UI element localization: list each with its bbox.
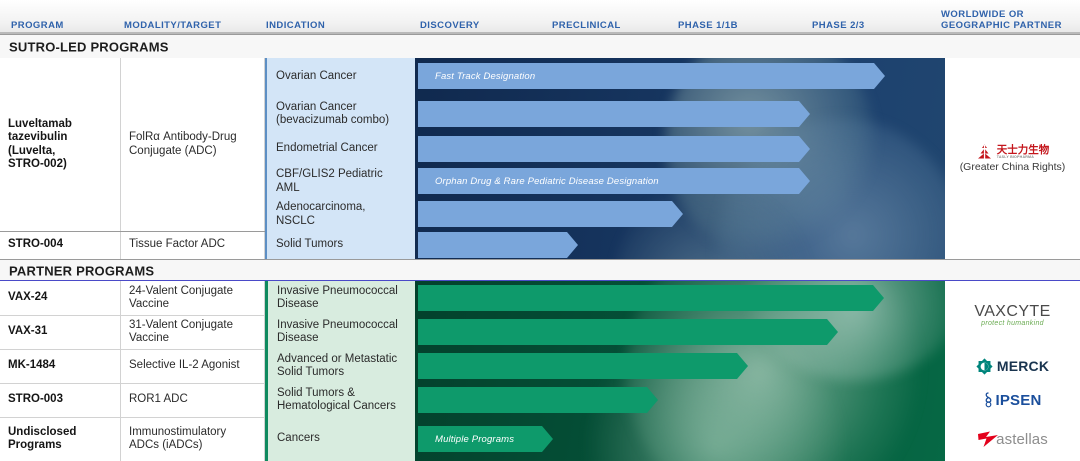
bar-label-multiple-programs: Multiple Programs: [418, 434, 514, 445]
bar-fill: [418, 353, 737, 379]
vaxcyte-logo-tagline: protect humankind: [981, 320, 1044, 327]
bar-arrow-tip: [799, 168, 810, 194]
table-row: VAX-31 31-Valent ConjugateVaccine Invasi…: [0, 315, 1080, 349]
section-partner: VAX-24 24-Valent ConjugateVaccine Invasi…: [0, 281, 1080, 461]
cell-indication: Advanced or MetastaticSolid Tumors: [265, 349, 415, 383]
vaxcyte-logo-text: VAXCYTE: [974, 303, 1050, 321]
bar-arrow-tip: [542, 426, 553, 452]
cell-modality-tissue-factor: Tissue Factor ADC: [120, 231, 265, 259]
bar-arrow-tip: [737, 353, 748, 379]
partner-cell-tasly: 天士力生物 TASLY BIOPHARMA (Greater China Rig…: [945, 58, 1080, 259]
table-row: Adenocarcinoma, NSCLC: [0, 198, 1080, 231]
merck-logo: MERCK: [976, 358, 1049, 375]
cell-program-stro-004: STRO-004: [0, 231, 120, 259]
column-header-indication: INDICATION: [266, 20, 325, 31]
column-header-discovery: DISCOVERY: [420, 20, 480, 31]
phase-bar-undisclosed: Multiple Programs: [418, 426, 553, 452]
cell-indication: Cancers: [265, 417, 415, 461]
ipsen-logo-text: IPSEN: [995, 392, 1041, 409]
column-header-phase1: PHASE 1/1B: [678, 20, 738, 31]
cell-program-undisclosed: UndisclosedPrograms: [0, 417, 120, 461]
phase-bar-solid-tumors: [418, 232, 578, 258]
cell-program-vax-24: VAX-24: [0, 281, 120, 315]
phase-bar-adenocarcinoma-nsclc: [418, 201, 683, 227]
cell-indication: Invasive PneumococcalDisease: [265, 281, 415, 315]
bar-fill: [418, 319, 827, 345]
ipsen-mark-icon: [983, 392, 994, 408]
phase-bar-stro-003: [418, 387, 658, 413]
phase-bar-mk-1484: [418, 353, 748, 379]
bar-arrow-tip: [799, 136, 810, 162]
column-header-program: PROGRAM: [11, 20, 64, 31]
phase-bar-vax-31: [418, 319, 838, 345]
bar-fill: [418, 387, 647, 413]
cell-program-vax-31: VAX-31: [0, 315, 120, 349]
bar-arrow-tip: [799, 101, 810, 127]
pipeline-chart: PROGRAM MODALITY/TARGET INDICATION DISCO…: [0, 0, 1080, 461]
cell-indication: Endometrial Cancer: [265, 133, 415, 165]
bar-fill: [418, 101, 799, 127]
bar-fill: [418, 285, 873, 311]
table-row: MK-1484 Selective IL-2 Agonist Advanced …: [0, 349, 1080, 383]
phase-bar-ovarian-cancer: Fast Track Designation: [418, 63, 885, 89]
column-header-preclinical: PRECLINICAL: [552, 20, 621, 31]
column-header-modality: MODALITY/TARGET: [124, 20, 221, 31]
bar-arrow-tip: [874, 63, 885, 89]
table-row: UndisclosedPrograms ImmunostimulatoryADC…: [0, 417, 1080, 461]
partner-cell-ipsen: IPSEN: [945, 383, 1080, 417]
section-title-sutro: SUTRO-LED PROGRAMS: [9, 39, 169, 54]
table-row: VAX-24 24-Valent ConjugateVaccine Invasi…: [0, 281, 1080, 315]
bar-fill: [418, 136, 799, 162]
bar-arrow-tip: [672, 201, 683, 227]
tasly-logo-chinese: 天士力生物: [997, 145, 1050, 155]
bar-fill: [418, 201, 672, 227]
section-sutro: Luveltamab tazevibulin (Luvelta, STRO-00…: [0, 58, 1080, 259]
partner-cell-merck: MERCK: [945, 349, 1080, 383]
cell-indication: Solid Tumors: [265, 231, 415, 259]
section-band-sutro: SUTRO-LED PROGRAMS: [0, 34, 1080, 58]
cell-modality-il2-agonist: Selective IL-2 Agonist: [120, 349, 265, 383]
bar-arrow-tip: [873, 285, 884, 311]
cell-indication: Ovarian Cancer(bevacizumab combo): [265, 95, 415, 133]
partner-cell-vaxcyte: VAXCYTE protect humankind: [945, 281, 1080, 349]
tasly-logo-english: TASLY BIOPHARMA: [997, 155, 1034, 159]
bar-fill: [418, 232, 567, 258]
merck-logo-text: MERCK: [997, 358, 1049, 374]
cell-indication: Adenocarcinoma, NSCLC: [265, 198, 415, 231]
cell-program-mk-1484: MK-1484: [0, 349, 120, 383]
cell-indication: CBF/GLIS2 Pediatric AML: [265, 165, 415, 198]
table-row: STRO-003 ROR1 ADC Solid Tumors &Hematolo…: [0, 383, 1080, 417]
vaxcyte-logo: VAXCYTE protect humankind: [974, 303, 1050, 327]
column-header-partner-line1: WORLDWIDE OR: [941, 9, 1024, 20]
bar-label-orphan-drug: Orphan Drug & Rare Pediatric Disease Des…: [418, 176, 659, 187]
partner-rights-caption: (Greater China Rights): [960, 161, 1066, 173]
bar-label-fast-track: Fast Track Designation: [418, 71, 535, 82]
table-row: Ovarian Cancer(bevacizumab combo): [0, 95, 1080, 133]
tasly-mark-icon: [976, 144, 993, 159]
partner-cell-astellas: astellas: [945, 417, 1080, 461]
bar-arrow-tip: [567, 232, 578, 258]
phase-bar-endometrial-cancer: [418, 136, 810, 162]
cell-indication: Solid Tumors &Hematological Cancers: [265, 383, 415, 417]
bar-arrow-tip: [827, 319, 838, 345]
phase-bar-vax-24: [418, 285, 884, 311]
column-header-partner-line2: GEOGRAPHIC PARTNER: [941, 20, 1062, 31]
tasly-logo: 天士力生物 TASLY BIOPHARMA: [976, 144, 1050, 159]
column-header-row: PROGRAM MODALITY/TARGET INDICATION DISCO…: [0, 0, 1080, 34]
section-title-partner: PARTNER PROGRAMS: [9, 263, 154, 278]
phase-bar-cbf-glis2-aml: Orphan Drug & Rare Pediatric Disease Des…: [418, 168, 810, 194]
merck-mark-icon: [976, 358, 993, 375]
astellas-logo-text: astellas: [996, 431, 1048, 448]
astellas-logo: astellas: [977, 430, 1048, 448]
phase-bar-ovarian-bev-combo: [418, 101, 810, 127]
cell-modality-ror1-adc: ROR1 ADC: [120, 383, 265, 417]
cell-modality-24-valent: 24-Valent ConjugateVaccine: [120, 281, 265, 315]
cell-program-stro-003: STRO-003: [0, 383, 120, 417]
table-row: Ovarian Cancer Fast Track Designation: [0, 58, 1080, 95]
cell-indication: Ovarian Cancer: [265, 58, 415, 95]
cell-modality-iadcs: ImmunostimulatoryADCs (iADCs): [120, 417, 265, 461]
bar-arrow-tip: [647, 387, 658, 413]
table-row: Endometrial Cancer: [0, 133, 1080, 165]
table-row: STRO-004 Tissue Factor ADC Solid Tumors: [0, 231, 1080, 259]
cell-modality-31-valent: 31-Valent ConjugateVaccine: [120, 315, 265, 349]
cell-indication: Invasive PneumococcalDisease: [265, 315, 415, 349]
column-header-phase23: PHASE 2/3: [812, 20, 865, 31]
ipsen-logo: IPSEN: [983, 392, 1041, 409]
section-band-partner: PARTNER PROGRAMS: [0, 259, 1080, 281]
table-row: CBF/GLIS2 Pediatric AML Orphan Drug & Ra…: [0, 165, 1080, 198]
